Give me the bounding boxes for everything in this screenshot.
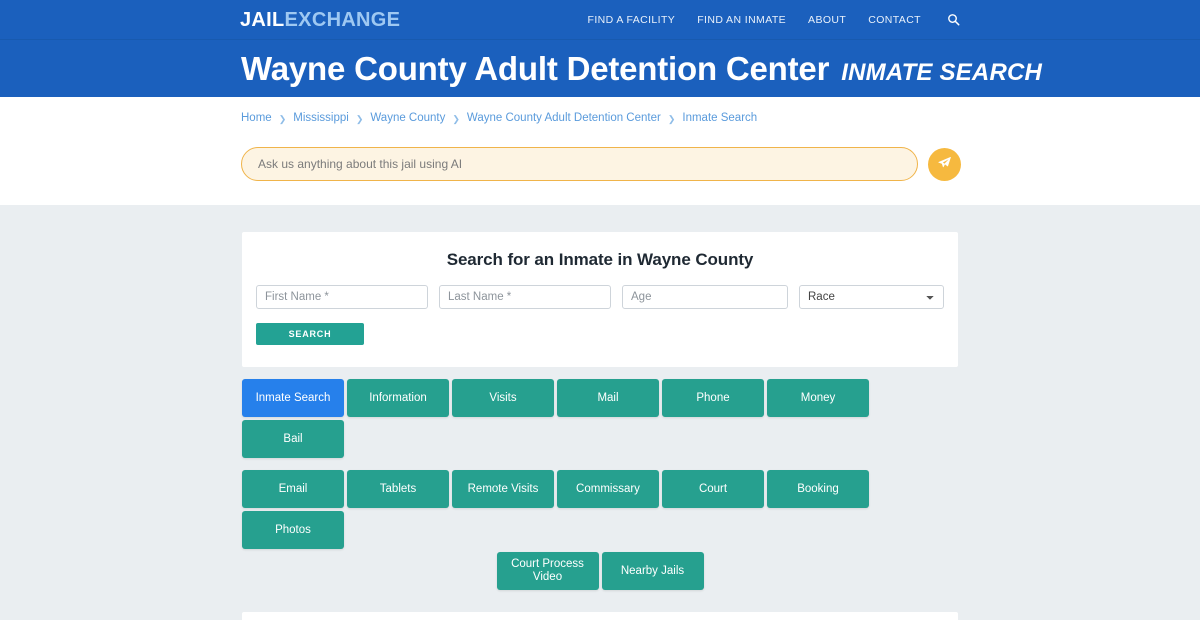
nav-find-a-facility[interactable]: FIND A FACILITY	[588, 14, 676, 26]
top-navigation-bar: JAILEXCHANGE FIND A FACILITY FIND AN INM…	[0, 0, 1200, 40]
age-input[interactable]	[622, 285, 788, 309]
breadcrumb-and-ai-section: Home ❯ Mississippi ❯ Wayne County ❯ Wayn…	[0, 97, 1200, 205]
chevron-right-icon: ❯	[279, 115, 287, 124]
main-content: Search for an Inmate in Wayne County Rac…	[0, 205, 1200, 620]
tab-bail[interactable]: Bail	[242, 420, 344, 458]
ai-send-button[interactable]	[928, 148, 961, 181]
tab-commissary[interactable]: Commissary	[557, 470, 659, 508]
breadcrumb-item-facility[interactable]: Wayne County Adult Detention Center	[467, 113, 661, 125]
breadcrumb-item-wayne-county[interactable]: Wayne County	[370, 113, 445, 125]
inmate-search-panel: Search for an Inmate in Wayne County Rac…	[242, 232, 958, 367]
nav-find-an-inmate[interactable]: FIND AN INMATE	[697, 14, 786, 26]
send-paper-plane-icon	[937, 155, 952, 173]
article-panel: Wayne County Adult Detention Center Inma…	[242, 612, 958, 620]
search-submit-button[interactable]: SEARCH	[256, 323, 364, 345]
tab-information[interactable]: Information	[347, 379, 449, 417]
page-title-banner: Wayne County Adult Detention Center INMA…	[0, 40, 1200, 97]
logo-text-jail: JAIL	[240, 9, 285, 31]
tab-photos[interactable]: Photos	[242, 511, 344, 549]
chevron-right-icon: ❯	[452, 115, 460, 124]
first-name-input[interactable]	[256, 285, 428, 309]
search-icon[interactable]	[947, 13, 960, 26]
tab-phone[interactable]: Phone	[662, 379, 764, 417]
search-fields-row: Race	[256, 285, 944, 309]
chevron-right-icon: ❯	[668, 115, 676, 124]
tab-mail[interactable]: Mail	[557, 379, 659, 417]
breadcrumb: Home ❯ Mississippi ❯ Wayne County ❯ Wayn…	[241, 111, 1200, 127]
content-container: Search for an Inmate in Wayne County Rac…	[242, 232, 958, 620]
page-title-suffix: INMATE SEARCH	[841, 61, 1042, 85]
race-select[interactable]: Race	[799, 285, 944, 309]
tab-email[interactable]: Email	[242, 470, 344, 508]
tab-tablets[interactable]: Tablets	[347, 470, 449, 508]
tab-court-process-video[interactable]: Court Process Video	[497, 552, 599, 590]
top-navigation-inner: JAILEXCHANGE FIND A FACILITY FIND AN INM…	[0, 10, 1200, 30]
facility-tab-row-1: Inmate Search Information Visits Mail Ph…	[242, 379, 958, 458]
page-title: Wayne County Adult Detention Center	[241, 52, 829, 85]
tab-inmate-search[interactable]: Inmate Search	[242, 379, 344, 417]
breadcrumb-item-home[interactable]: Home	[241, 113, 272, 125]
ai-search-input[interactable]	[241, 147, 918, 181]
main-nav: FIND A FACILITY FIND AN INMATE ABOUT CON…	[588, 13, 960, 26]
tab-money[interactable]: Money	[767, 379, 869, 417]
tab-court[interactable]: Court	[662, 470, 764, 508]
nav-about[interactable]: ABOUT	[808, 14, 846, 26]
last-name-input[interactable]	[439, 285, 611, 309]
breadcrumb-item-mississippi[interactable]: Mississippi	[293, 113, 349, 125]
facility-tab-row-3: Court Process Video Nearby Jails	[242, 552, 958, 590]
breadcrumb-item-inmate-search[interactable]: Inmate Search	[682, 113, 757, 125]
facility-tab-row-2: Email Tablets Remote Visits Commissary C…	[242, 470, 958, 549]
tab-remote-visits[interactable]: Remote Visits	[452, 470, 554, 508]
search-panel-heading: Search for an Inmate in Wayne County	[256, 250, 944, 270]
chevron-right-icon: ❯	[356, 115, 364, 124]
tab-visits[interactable]: Visits	[452, 379, 554, 417]
tab-nearby-jails[interactable]: Nearby Jails	[602, 552, 704, 590]
tab-booking[interactable]: Booking	[767, 470, 869, 508]
page-title-banner-inner: Wayne County Adult Detention Center INMA…	[0, 52, 1200, 85]
logo-text-exchange: EXCHANGE	[285, 9, 401, 31]
site-logo[interactable]: JAILEXCHANGE	[240, 10, 400, 30]
nav-contact[interactable]: CONTACT	[868, 14, 921, 26]
ai-search-row	[241, 147, 1200, 181]
